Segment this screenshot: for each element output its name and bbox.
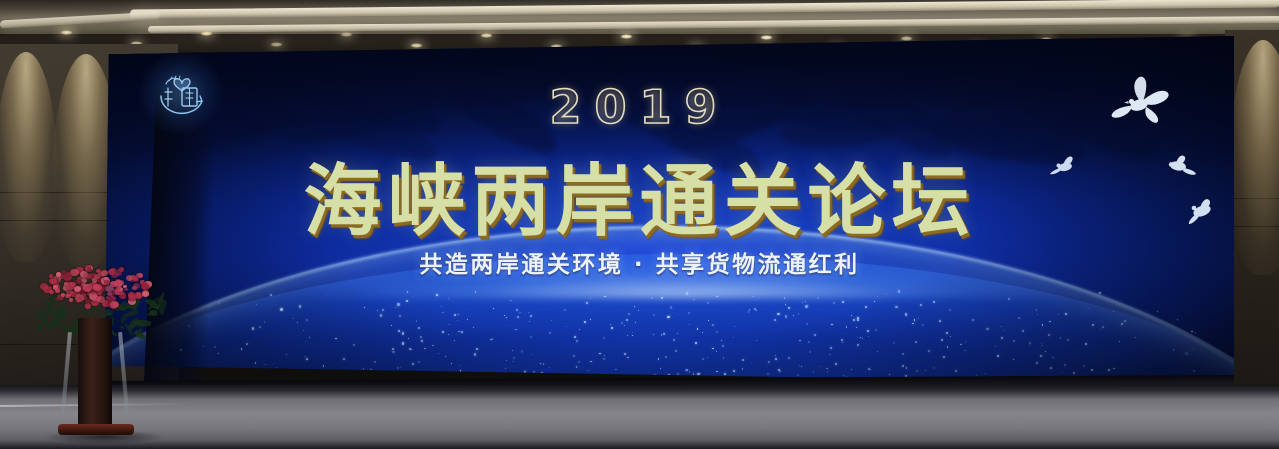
pedestal-column bbox=[78, 318, 112, 430]
city-light-dot bbox=[665, 356, 667, 358]
city-light-dot bbox=[784, 297, 786, 299]
city-light-dot bbox=[947, 346, 949, 348]
city-light-dot bbox=[712, 348, 714, 350]
rose-bloom bbox=[142, 291, 149, 297]
city-light-dot bbox=[902, 365, 904, 367]
city-light-dot bbox=[599, 353, 601, 355]
city-light-dot bbox=[624, 353, 626, 355]
city-light-dot bbox=[615, 369, 617, 371]
city-light-dot bbox=[416, 320, 418, 322]
city-light-dot bbox=[808, 341, 810, 343]
city-light-dot bbox=[457, 320, 458, 321]
city-light-dot bbox=[895, 306, 897, 308]
city-light-dot bbox=[515, 329, 517, 331]
city-light-dot bbox=[693, 371, 694, 372]
city-light-dot bbox=[370, 369, 372, 371]
city-light-dot bbox=[458, 314, 459, 315]
city-light-dot bbox=[1008, 298, 1010, 300]
city-light-dot bbox=[451, 363, 452, 364]
city-light-dot bbox=[392, 348, 394, 350]
city-light-dot bbox=[305, 341, 306, 342]
city-light-dot bbox=[593, 375, 594, 376]
city-light-dot bbox=[374, 361, 375, 362]
city-light-dot bbox=[590, 298, 591, 299]
city-light-dot bbox=[886, 294, 887, 295]
city-light-dot bbox=[256, 304, 257, 305]
city-light-dot bbox=[407, 291, 409, 293]
city-light-dot bbox=[343, 358, 345, 360]
city-light-dot bbox=[949, 309, 951, 311]
city-light-dot bbox=[628, 313, 630, 315]
city-light-dot bbox=[829, 354, 831, 356]
city-light-dot bbox=[933, 367, 935, 369]
city-light-dot bbox=[397, 303, 399, 305]
city-light-dot bbox=[1195, 332, 1197, 334]
city-light-dot bbox=[788, 357, 790, 359]
city-light-dot bbox=[688, 312, 690, 314]
city-light-dot bbox=[862, 338, 863, 339]
city-light-dot bbox=[751, 363, 752, 364]
city-light-dot bbox=[432, 345, 434, 347]
city-light-dot bbox=[441, 306, 442, 307]
city-light-dot bbox=[377, 310, 378, 311]
city-light-dot bbox=[411, 349, 412, 350]
city-light-dot bbox=[941, 339, 942, 340]
city-light-dot bbox=[1058, 314, 1059, 315]
stage-floor bbox=[0, 385, 1279, 449]
city-light-dot bbox=[906, 367, 907, 368]
city-light-dot bbox=[1041, 345, 1042, 346]
city-light-dot bbox=[721, 340, 722, 341]
city-light-dot bbox=[505, 368, 506, 369]
city-light-dot bbox=[1052, 357, 1054, 359]
city-light-dot bbox=[670, 306, 672, 308]
city-light-dot bbox=[1065, 313, 1067, 315]
city-light-dot bbox=[402, 332, 404, 334]
city-light-dot bbox=[797, 374, 799, 376]
city-light-dot bbox=[1040, 355, 1042, 357]
city-light-dot bbox=[1102, 326, 1104, 328]
city-light-dot bbox=[1113, 368, 1115, 370]
city-light-dot bbox=[1060, 337, 1062, 339]
city-light-dot bbox=[584, 321, 586, 323]
city-light-dot bbox=[517, 316, 519, 318]
city-light-dot bbox=[309, 374, 311, 376]
city-light-dot bbox=[214, 346, 216, 348]
city-light-dot bbox=[604, 355, 605, 356]
city-light-dot bbox=[742, 368, 743, 369]
city-light-dot bbox=[323, 365, 325, 367]
city-light-dot bbox=[675, 350, 677, 352]
city-light-dot bbox=[928, 350, 930, 352]
city-light-dot bbox=[667, 316, 669, 318]
city-light-dot bbox=[1013, 340, 1015, 342]
rose-bloom bbox=[111, 272, 119, 278]
city-light-dot bbox=[543, 363, 545, 365]
city-light-dot bbox=[626, 319, 628, 321]
city-light-dot bbox=[916, 370, 918, 372]
city-light-dot bbox=[406, 300, 408, 302]
city-light-dot bbox=[528, 312, 529, 313]
city-light-dot bbox=[1155, 326, 1157, 328]
city-light-dot bbox=[364, 307, 365, 308]
city-light-dot bbox=[385, 376, 386, 377]
city-light-dot bbox=[722, 345, 724, 347]
city-light-dot bbox=[986, 328, 988, 330]
city-light-dot bbox=[925, 370, 927, 372]
city-light-dot bbox=[454, 340, 455, 341]
city-light-dot bbox=[857, 337, 858, 338]
ceiling-cove-light-2 bbox=[148, 16, 1279, 33]
city-light-dot bbox=[1083, 365, 1085, 367]
city-light-dot bbox=[634, 306, 635, 307]
city-light-dot bbox=[742, 359, 744, 361]
city-light-dot bbox=[689, 324, 690, 325]
city-light-dot bbox=[748, 311, 750, 313]
city-light-dot bbox=[513, 357, 515, 359]
city-light-dot bbox=[668, 374, 670, 376]
city-light-dot bbox=[661, 297, 663, 299]
city-light-dot bbox=[504, 315, 505, 316]
dove-icon-2 bbox=[1048, 152, 1082, 178]
city-light-dot bbox=[262, 370, 263, 371]
pedestal-base bbox=[58, 424, 134, 435]
city-light-dot bbox=[420, 336, 422, 338]
city-light-dot bbox=[842, 301, 844, 303]
city-light-dot bbox=[299, 305, 301, 307]
city-light-dot bbox=[476, 348, 478, 350]
city-light-dot bbox=[530, 336, 532, 338]
city-light-dot bbox=[280, 308, 282, 310]
city-light-dot bbox=[448, 334, 449, 335]
city-light-dot bbox=[1037, 314, 1038, 315]
city-light-dot bbox=[604, 296, 606, 298]
rose-bloom bbox=[49, 290, 54, 294]
city-light-dot bbox=[418, 327, 420, 329]
city-light-dot bbox=[578, 361, 580, 363]
city-light-dot bbox=[805, 301, 806, 302]
city-light-dot bbox=[902, 353, 904, 355]
city-light-dot bbox=[590, 361, 592, 363]
city-light-dot bbox=[889, 374, 890, 375]
year-heading: 2019 bbox=[0, 80, 1279, 134]
city-light-dot bbox=[408, 338, 410, 340]
city-light-dot bbox=[438, 353, 439, 354]
city-light-dot bbox=[877, 296, 878, 297]
city-light-dot bbox=[573, 355, 575, 357]
city-light-dot bbox=[632, 332, 634, 334]
city-light-dot bbox=[533, 371, 535, 373]
city-light-dot bbox=[549, 367, 550, 368]
city-light-dot bbox=[460, 370, 462, 372]
ceiling-cove-light-3 bbox=[0, 12, 160, 29]
city-light-dot bbox=[1048, 334, 1050, 336]
city-light-dot bbox=[869, 369, 871, 371]
city-light-dot bbox=[1157, 311, 1159, 313]
city-light-dot bbox=[638, 310, 639, 311]
city-light-dot bbox=[292, 318, 294, 320]
rose-bloom bbox=[56, 272, 61, 277]
city-light-dot bbox=[697, 373, 699, 375]
city-light-dot bbox=[846, 326, 847, 327]
city-light-dot bbox=[1064, 364, 1065, 365]
city-light-dot bbox=[1067, 339, 1069, 341]
city-light-dot bbox=[723, 357, 725, 359]
city-light-dot bbox=[700, 373, 701, 374]
city-light-dot bbox=[400, 367, 401, 368]
city-light-dot bbox=[716, 371, 718, 373]
city-light-dot bbox=[627, 335, 628, 336]
city-light-dot bbox=[445, 356, 446, 357]
city-light-dot bbox=[510, 325, 511, 326]
city-light-dot bbox=[506, 360, 507, 361]
city-light-dot bbox=[363, 368, 364, 369]
city-light-dot bbox=[914, 319, 915, 320]
city-light-dot bbox=[775, 358, 777, 360]
city-light-dot bbox=[218, 353, 219, 354]
city-light-dot bbox=[661, 334, 662, 335]
rose-bloom bbox=[70, 269, 79, 276]
city-light-dot bbox=[539, 376, 541, 378]
city-light-dot bbox=[516, 309, 518, 311]
city-light-dot bbox=[677, 333, 678, 334]
city-light-dot bbox=[252, 327, 254, 329]
city-light-dot bbox=[660, 368, 661, 369]
city-light-dot bbox=[939, 320, 941, 322]
rose-bloom bbox=[49, 278, 56, 284]
city-light-dot bbox=[632, 335, 633, 336]
city-light-dot bbox=[271, 370, 272, 371]
city-light-dot bbox=[1036, 309, 1037, 310]
city-light-dot bbox=[830, 347, 831, 348]
city-light-dot bbox=[695, 342, 697, 344]
city-light-dot bbox=[905, 313, 907, 315]
city-light-dot bbox=[912, 323, 914, 325]
city-light-dot bbox=[857, 344, 859, 346]
city-light-dot bbox=[424, 348, 425, 349]
city-light-dot bbox=[805, 305, 807, 307]
city-light-dot bbox=[920, 304, 922, 306]
city-light-dot bbox=[1100, 329, 1101, 330]
city-light-dot bbox=[475, 291, 477, 293]
city-light-dot bbox=[985, 373, 986, 374]
rose-bloom bbox=[49, 274, 53, 278]
city-light-dot bbox=[603, 337, 605, 339]
city-light-dot bbox=[412, 363, 414, 365]
rose-bloom bbox=[55, 288, 61, 293]
rose-bloom bbox=[141, 283, 149, 290]
city-light-dot bbox=[484, 372, 486, 374]
city-light-dot bbox=[955, 370, 957, 372]
city-light-dot bbox=[785, 304, 786, 305]
rose-bloom bbox=[101, 270, 108, 276]
rose-bloom bbox=[104, 280, 110, 285]
city-light-dot bbox=[588, 370, 589, 371]
city-light-dot bbox=[549, 332, 551, 334]
city-light-dot bbox=[793, 315, 794, 316]
city-light-dot bbox=[454, 314, 456, 316]
city-light-dot bbox=[635, 322, 637, 324]
city-light-dot bbox=[297, 322, 298, 323]
city-light-dot bbox=[1089, 308, 1090, 309]
city-light-dot bbox=[530, 315, 532, 317]
city-light-dot bbox=[306, 358, 308, 360]
city-light-dot bbox=[749, 309, 750, 310]
flower-blooms bbox=[34, 258, 154, 320]
city-light-dot bbox=[506, 317, 507, 318]
city-light-dot bbox=[689, 371, 691, 373]
city-light-dot bbox=[1001, 337, 1003, 339]
city-light-dot bbox=[827, 371, 828, 372]
city-light-dot bbox=[801, 366, 802, 367]
city-light-dot bbox=[509, 376, 511, 378]
ceiling-cove-light-1 bbox=[130, 0, 1279, 19]
city-light-dot bbox=[860, 337, 861, 338]
city-light-dot bbox=[621, 322, 623, 324]
dove-icon-1 bbox=[1105, 72, 1181, 134]
rose-bloom bbox=[93, 284, 101, 291]
city-light-dot bbox=[473, 327, 474, 328]
city-light-dot bbox=[809, 351, 811, 353]
forum-main-title: 海峡两岸通关论坛 bbox=[0, 139, 1279, 251]
city-light-dot bbox=[733, 337, 734, 338]
city-light-dot bbox=[264, 321, 266, 323]
city-light-dot bbox=[627, 357, 629, 359]
city-light-dot bbox=[693, 373, 694, 374]
city-light-dot bbox=[512, 350, 513, 351]
city-light-dot bbox=[817, 297, 819, 299]
city-light-dot bbox=[733, 370, 735, 372]
city-light-dot bbox=[1135, 337, 1136, 338]
city-light-dot bbox=[653, 334, 654, 335]
city-light-dot bbox=[436, 294, 438, 296]
city-light-dot bbox=[521, 350, 523, 352]
city-light-dot bbox=[1029, 342, 1031, 344]
city-light-dot bbox=[492, 338, 494, 340]
city-light-dot bbox=[922, 324, 924, 326]
city-light-dot bbox=[467, 319, 468, 320]
city-light-dot bbox=[942, 372, 943, 373]
city-light-dot bbox=[877, 351, 878, 352]
city-light-dot bbox=[624, 325, 625, 326]
city-light-dot bbox=[939, 349, 940, 350]
city-light-dot bbox=[707, 302, 709, 304]
city-light-dot bbox=[510, 300, 511, 301]
city-light-dot bbox=[1050, 367, 1052, 369]
city-light-dot bbox=[309, 337, 311, 339]
city-light-dot bbox=[214, 300, 215, 301]
city-light-dot bbox=[579, 329, 580, 330]
city-light-dot bbox=[997, 355, 999, 357]
city-light-dot bbox=[442, 312, 443, 313]
city-light-dot bbox=[831, 324, 833, 326]
city-light-dot bbox=[875, 329, 877, 331]
floral-arrangement-stand bbox=[34, 258, 154, 436]
city-light-dot bbox=[960, 344, 962, 346]
city-light-dot bbox=[306, 319, 308, 321]
city-light-dot bbox=[218, 302, 220, 304]
city-light-dot bbox=[562, 292, 563, 293]
city-light-dot bbox=[610, 324, 611, 325]
city-light-dot bbox=[777, 313, 779, 315]
city-light-dot bbox=[1191, 331, 1193, 333]
city-light-dot bbox=[950, 336, 951, 337]
city-light-dot bbox=[255, 362, 257, 364]
city-light-dot bbox=[965, 341, 967, 343]
city-light-dot bbox=[964, 350, 966, 352]
city-light-dot bbox=[833, 302, 835, 304]
city-light-dot bbox=[819, 366, 820, 367]
city-light-dot bbox=[767, 373, 769, 375]
city-light-dot bbox=[874, 301, 875, 302]
city-light-dot bbox=[686, 292, 688, 294]
city-light-dot bbox=[702, 332, 703, 333]
city-light-dot bbox=[1001, 326, 1002, 327]
city-light-dot bbox=[693, 299, 694, 300]
city-light-dot bbox=[677, 373, 679, 375]
city-light-dot bbox=[1049, 321, 1051, 323]
rose-bloom bbox=[69, 298, 73, 302]
city-light-dot bbox=[865, 306, 867, 308]
city-light-dot bbox=[397, 367, 399, 369]
city-light-dot bbox=[813, 371, 815, 373]
ceiling-spotlight bbox=[60, 30, 73, 35]
city-light-dot bbox=[566, 326, 567, 327]
pedestal-leg-right bbox=[118, 332, 130, 422]
city-light-dot bbox=[270, 294, 272, 296]
city-light-dot bbox=[513, 361, 514, 362]
city-light-dot bbox=[1085, 343, 1087, 345]
city-light-dot bbox=[734, 326, 735, 327]
city-light-dot bbox=[586, 302, 588, 304]
city-light-dot bbox=[1113, 311, 1114, 312]
city-light-dot bbox=[273, 363, 274, 364]
city-light-dot bbox=[915, 341, 917, 343]
city-light-dot bbox=[241, 348, 242, 349]
city-light-dot bbox=[398, 330, 400, 332]
city-light-dot bbox=[378, 370, 379, 371]
city-light-dot bbox=[353, 344, 355, 346]
city-light-dot bbox=[448, 298, 449, 299]
city-light-dot bbox=[1193, 370, 1195, 372]
city-light-dot bbox=[851, 369, 852, 370]
rose-bloom bbox=[120, 292, 126, 297]
city-light-dot bbox=[1004, 330, 1005, 331]
city-light-dot bbox=[458, 331, 460, 333]
city-light-dot bbox=[576, 366, 578, 368]
city-light-dot bbox=[799, 340, 801, 342]
city-light-dot bbox=[1042, 324, 1044, 326]
city-light-dot bbox=[603, 358, 605, 360]
city-light-dot bbox=[474, 353, 476, 355]
city-light-dot bbox=[504, 373, 506, 375]
city-light-dot bbox=[716, 351, 717, 352]
city-light-dot bbox=[461, 331, 463, 333]
city-light-dot bbox=[716, 296, 718, 298]
city-light-dot bbox=[335, 338, 337, 340]
city-light-dot bbox=[686, 369, 688, 371]
city-light-dot bbox=[779, 370, 781, 372]
city-light-dot bbox=[1022, 330, 1024, 332]
city-light-dot bbox=[574, 336, 576, 338]
city-light-dot bbox=[702, 358, 704, 360]
city-light-dot bbox=[454, 375, 455, 376]
city-light-dot bbox=[724, 373, 726, 375]
city-light-dot bbox=[246, 343, 248, 345]
city-light-dot bbox=[610, 375, 611, 376]
city-light-dot bbox=[1119, 341, 1120, 342]
city-light-dot bbox=[1036, 362, 1038, 364]
